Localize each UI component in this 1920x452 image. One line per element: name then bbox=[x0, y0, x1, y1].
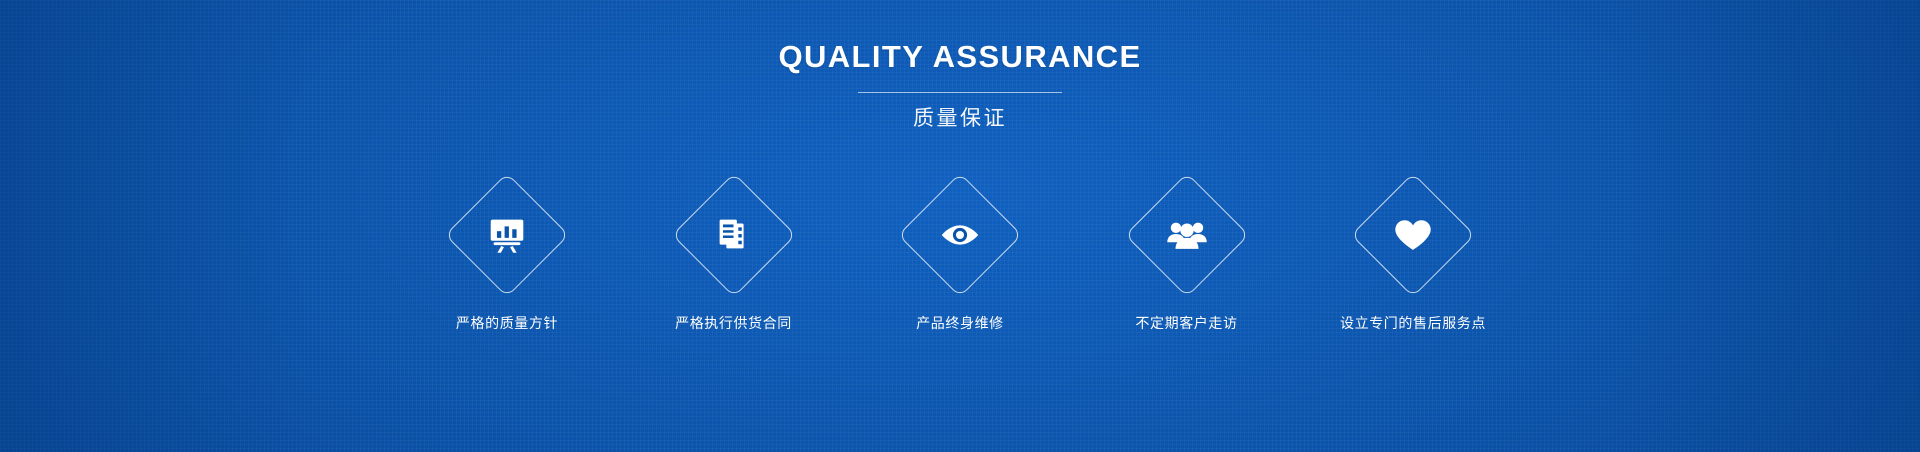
heart-icon bbox=[1390, 212, 1436, 258]
documents-contract-icon bbox=[711, 212, 757, 258]
feature-label: 严格的质量方针 bbox=[456, 313, 558, 333]
diamond-frame-3 bbox=[898, 173, 1022, 297]
diamond-frame-4 bbox=[1125, 173, 1249, 297]
page-title-english: QUALITY ASSURANCE bbox=[0, 38, 1920, 76]
quality-assurance-banner: QUALITY ASSURANCE 质量保证 bbox=[0, 0, 1920, 452]
feature-label: 产品终身维修 bbox=[916, 313, 1004, 333]
feature-item-supply-contract[interactable]: 严格执行供货合同 bbox=[627, 173, 841, 333]
feature-label: 不定期客户走访 bbox=[1135, 313, 1237, 333]
feature-item-after-sales-points[interactable]: 设立专门的售后服务点 bbox=[1306, 173, 1520, 333]
feature-list: 严格的质量方针 严格执 bbox=[400, 173, 1520, 333]
banner-heading: QUALITY ASSURANCE 质量保证 bbox=[0, 0, 1920, 133]
feature-item-lifetime-service[interactable]: 产品终身维修 bbox=[853, 173, 1067, 333]
title-divider bbox=[858, 92, 1062, 93]
eye-icon bbox=[937, 212, 983, 258]
feature-item-customer-visits[interactable]: 不定期客户走访 bbox=[1080, 173, 1294, 333]
feature-label: 严格执行供货合同 bbox=[675, 313, 792, 333]
presentation-chart-icon bbox=[484, 212, 530, 258]
people-group-icon bbox=[1164, 212, 1210, 258]
page-title-chinese: 质量保证 bbox=[0, 105, 1920, 133]
feature-item-quality-policy[interactable]: 严格的质量方针 bbox=[400, 173, 614, 333]
diamond-frame-5 bbox=[1351, 173, 1475, 297]
diamond-frame-1 bbox=[445, 173, 569, 297]
feature-label: 设立专门的售后服务点 bbox=[1340, 313, 1486, 333]
diamond-frame-2 bbox=[672, 173, 796, 297]
